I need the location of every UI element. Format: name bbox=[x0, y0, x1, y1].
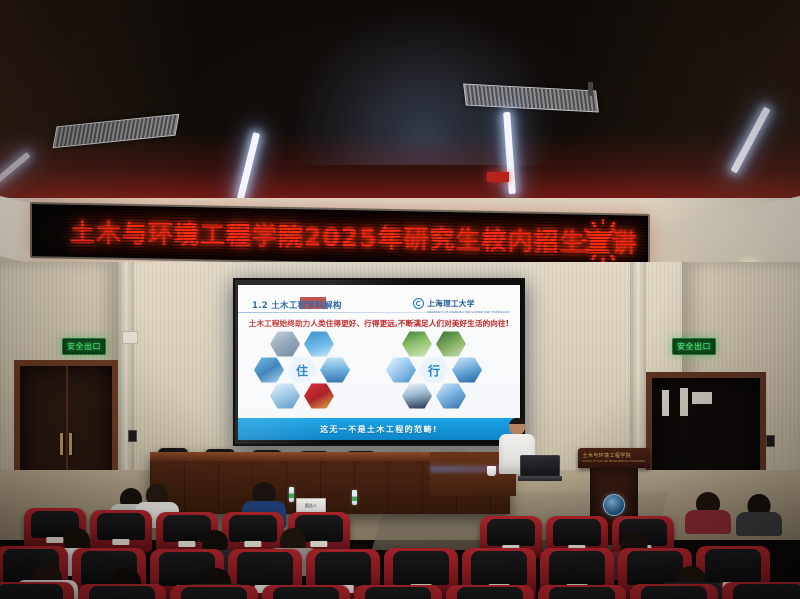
clock-minute-hand bbox=[602, 228, 615, 244]
hex-tile-expressway bbox=[386, 357, 416, 383]
slide-bottom-banner-text: 这无一不是土木工程的范畴! bbox=[320, 424, 438, 435]
wall-light-switch[interactable] bbox=[128, 430, 137, 442]
ceiling-red-indicator bbox=[487, 172, 509, 182]
exit-sign-left: 安全出口 bbox=[62, 338, 106, 355]
laptop-keyboard bbox=[518, 476, 562, 481]
lectern-label-cn: 土木与环境工程学院 bbox=[582, 453, 631, 459]
auditorium-seat[interactable] bbox=[262, 585, 350, 599]
auditorium-seat[interactable] bbox=[630, 584, 718, 599]
university-logo-cn: 上海理工大学 bbox=[427, 299, 474, 308]
hex-tile-green-tunnel bbox=[402, 331, 432, 357]
seat-number-tag bbox=[244, 541, 261, 547]
hexagon-group-travel: 行 bbox=[386, 331, 516, 421]
lectern-label: 土木与环境工程学院 SCHOOL OF CIVIL AND ENVIRONMEN… bbox=[582, 452, 645, 463]
seat-back bbox=[733, 584, 800, 599]
door-posted-notice bbox=[662, 390, 669, 416]
lectern-label-en: SCHOOL OF CIVIL AND ENVIRONMENTAL ENGINE… bbox=[582, 460, 645, 463]
door-handle[interactable] bbox=[60, 433, 63, 455]
hex-center-label-live: 住 bbox=[287, 357, 317, 383]
hex-tile-coastal-city bbox=[254, 357, 284, 383]
led-banner-text: 土木与环境工程学院2025年研究生校内招生宣讲 bbox=[70, 213, 638, 260]
auditorium-seat[interactable] bbox=[170, 585, 258, 599]
ceiling-sensor bbox=[588, 82, 593, 96]
auditorium-seat[interactable] bbox=[0, 582, 74, 599]
led-clock bbox=[580, 218, 626, 265]
hex-tile-high-speed-train bbox=[452, 357, 482, 383]
seat-back bbox=[487, 519, 534, 547]
seat-back bbox=[457, 587, 524, 599]
auditorium-seat[interactable] bbox=[446, 585, 534, 599]
audience-torso bbox=[736, 512, 782, 536]
seat-back bbox=[273, 587, 340, 599]
auditorium-seat[interactable] bbox=[78, 584, 166, 599]
wall-access-panel bbox=[122, 331, 138, 344]
hex-tile-bridge-complex bbox=[270, 331, 300, 357]
hex-tile-opera-house bbox=[270, 383, 300, 409]
university-logo: 上海理工大学 UNIVERSITY OF SHANGHAI FOR SCIENC… bbox=[413, 293, 510, 314]
seat-back bbox=[393, 551, 449, 585]
exit-sign-left-text: 安全出口 bbox=[67, 341, 101, 352]
hex-tile-airport-terminal bbox=[402, 383, 432, 409]
door-center-seam bbox=[66, 366, 68, 486]
seat-back bbox=[471, 551, 527, 585]
auditorium-seat[interactable] bbox=[538, 585, 626, 599]
hex-tile-blue-tower bbox=[304, 331, 334, 357]
slide-bottom-banner: 这无一不是土木工程的范畴! bbox=[238, 418, 520, 440]
auditorium-seat[interactable] bbox=[722, 582, 800, 599]
exit-sign-right: 安全出口 bbox=[672, 338, 716, 355]
slide-subtitle: 土木工程始终助力人类住得更好、行得更远,不断满足人们对美好生活的向往! bbox=[249, 318, 509, 329]
seat-back bbox=[365, 587, 432, 599]
door-handle[interactable] bbox=[69, 433, 72, 455]
lectern-top: 土木与环境工程学院 SCHOOL OF CIVIL AND ENVIRONMEN… bbox=[578, 448, 650, 468]
audience-torso bbox=[685, 510, 731, 534]
seat-back bbox=[0, 584, 63, 599]
seat-back bbox=[315, 552, 371, 586]
wall-light-switch[interactable] bbox=[766, 435, 775, 447]
hexagon-collage: 住 行 bbox=[238, 331, 520, 421]
presenter-head bbox=[509, 418, 525, 435]
university-logo-en: UNIVERSITY OF SHANGHAI FOR SCIENCE AND T… bbox=[427, 311, 510, 314]
seat-back bbox=[549, 551, 605, 585]
seat-back bbox=[553, 519, 600, 547]
hexagon-group-live: 住 bbox=[254, 331, 384, 421]
auditorium-scene: 土木与环境工程学院2025年研究生校内招生宣讲 安全出口 安全出口 bbox=[0, 0, 800, 599]
slatted-ceiling bbox=[0, 0, 800, 212]
laptop bbox=[518, 455, 562, 481]
audience-area bbox=[0, 486, 800, 599]
door-posted-notice bbox=[692, 392, 712, 404]
presentation-slide: 1.2 土木工程学科解构 上海理工大学 UNIVERSITY OF SHANGH… bbox=[238, 285, 520, 440]
hex-center-label-travel: 行 bbox=[419, 357, 449, 383]
seat-back bbox=[181, 587, 248, 599]
projection-screen: 1.2 土木工程学科解构 上海理工大学 UNIVERSITY OF SHANGH… bbox=[233, 278, 525, 446]
exit-sign-right-text: 安全出口 bbox=[677, 341, 711, 352]
seat-back bbox=[641, 586, 708, 599]
wall-pilaster bbox=[118, 262, 134, 492]
laptop-screen bbox=[520, 455, 560, 477]
seat-back bbox=[549, 587, 616, 599]
seat-back bbox=[97, 513, 144, 541]
hex-tile-rail-station bbox=[436, 383, 466, 409]
audience-member bbox=[685, 492, 731, 534]
auditorium-seat[interactable] bbox=[354, 585, 442, 599]
door-posted-notice bbox=[680, 388, 688, 416]
hex-tile-red-hall bbox=[304, 383, 334, 409]
hex-tile-highway-interchange bbox=[436, 331, 466, 357]
hex-tile-city-skyline bbox=[320, 357, 350, 383]
led-banner: 土木与环境工程学院2025年研究生校内招生宣讲 bbox=[30, 202, 650, 270]
audience-member bbox=[736, 494, 782, 536]
slide-title: 1.2 土木工程学科解构 bbox=[252, 299, 342, 311]
cup bbox=[487, 466, 496, 476]
seat-back bbox=[89, 586, 156, 599]
seat-number-tag bbox=[112, 539, 129, 545]
university-logo-mark bbox=[413, 298, 424, 309]
